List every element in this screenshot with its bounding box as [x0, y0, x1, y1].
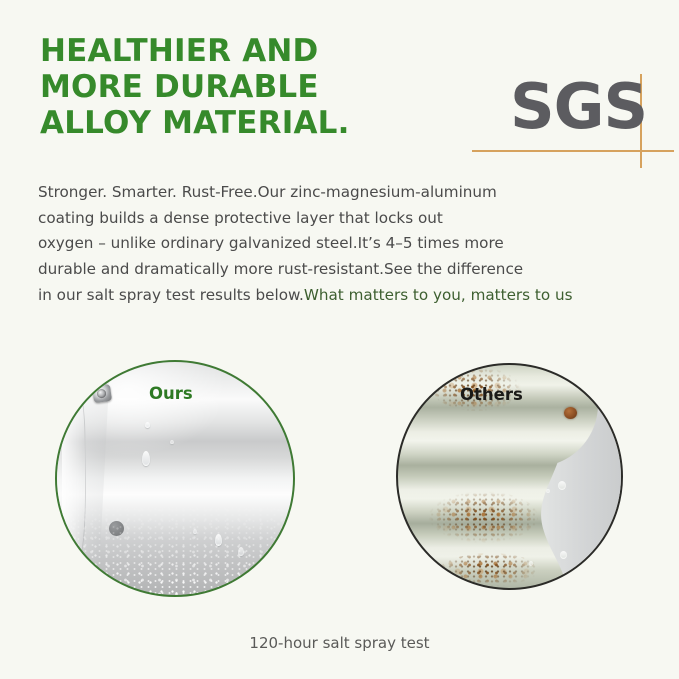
others-sample-photo: Others: [396, 363, 623, 590]
body-line-4: durable and dramatically more rust-resis…: [38, 257, 653, 283]
comparison-caption: 120-hour salt spray test: [0, 634, 679, 652]
ours-sample-photo: Ours: [55, 360, 295, 597]
body-line-5: in our salt spray test results below.Wha…: [38, 283, 653, 309]
ours-water-beading: [57, 497, 293, 595]
water-bead: [546, 489, 550, 493]
page-title: HEALTHIER AND MORE DURABLE ALLOY MATERIA…: [40, 33, 440, 141]
water-droplet: [145, 422, 150, 428]
headline-line-1: HEALTHIER AND: [40, 33, 440, 69]
sgs-logo: SGS: [470, 68, 675, 168]
ours-label: Ours: [149, 384, 193, 403]
promo-banner: HEALTHIER AND MORE DURABLE ALLOY MATERIA…: [0, 0, 679, 679]
body-line-5-plain: in our salt spray test results below.: [38, 286, 304, 304]
rust-spot: [564, 407, 577, 419]
water-bead: [560, 551, 567, 559]
water-droplet: [142, 451, 150, 466]
rust-patch: [438, 553, 542, 590]
sgs-horizontal-rule: [472, 150, 674, 152]
bolt-icon: [92, 384, 112, 403]
rust-patch: [426, 491, 538, 543]
body-line-1: Stronger. Smarter. Rust-Free.Our zinc-ma…: [38, 180, 653, 206]
body-paragraph: Stronger. Smarter. Rust-Free.Our zinc-ma…: [38, 180, 653, 309]
water-bead: [529, 561, 533, 566]
body-line-3: oxygen – unlike ordinary galvanized stee…: [38, 231, 653, 257]
headline-line-3: ALLOY MATERIAL.: [40, 105, 440, 141]
body-line-2: coating builds a dense protective layer …: [38, 206, 653, 232]
salt-spray-comparison: Ours Others: [0, 355, 679, 605]
water-bead: [558, 481, 566, 490]
others-panel-edge: [536, 363, 623, 590]
water-droplet: [170, 440, 174, 444]
sgs-wordmark: SGS: [510, 68, 647, 146]
others-label: Others: [460, 385, 523, 404]
headline-line-2: MORE DURABLE: [40, 69, 440, 105]
body-line-5-accent: What matters to you, matters to us: [304, 286, 573, 304]
